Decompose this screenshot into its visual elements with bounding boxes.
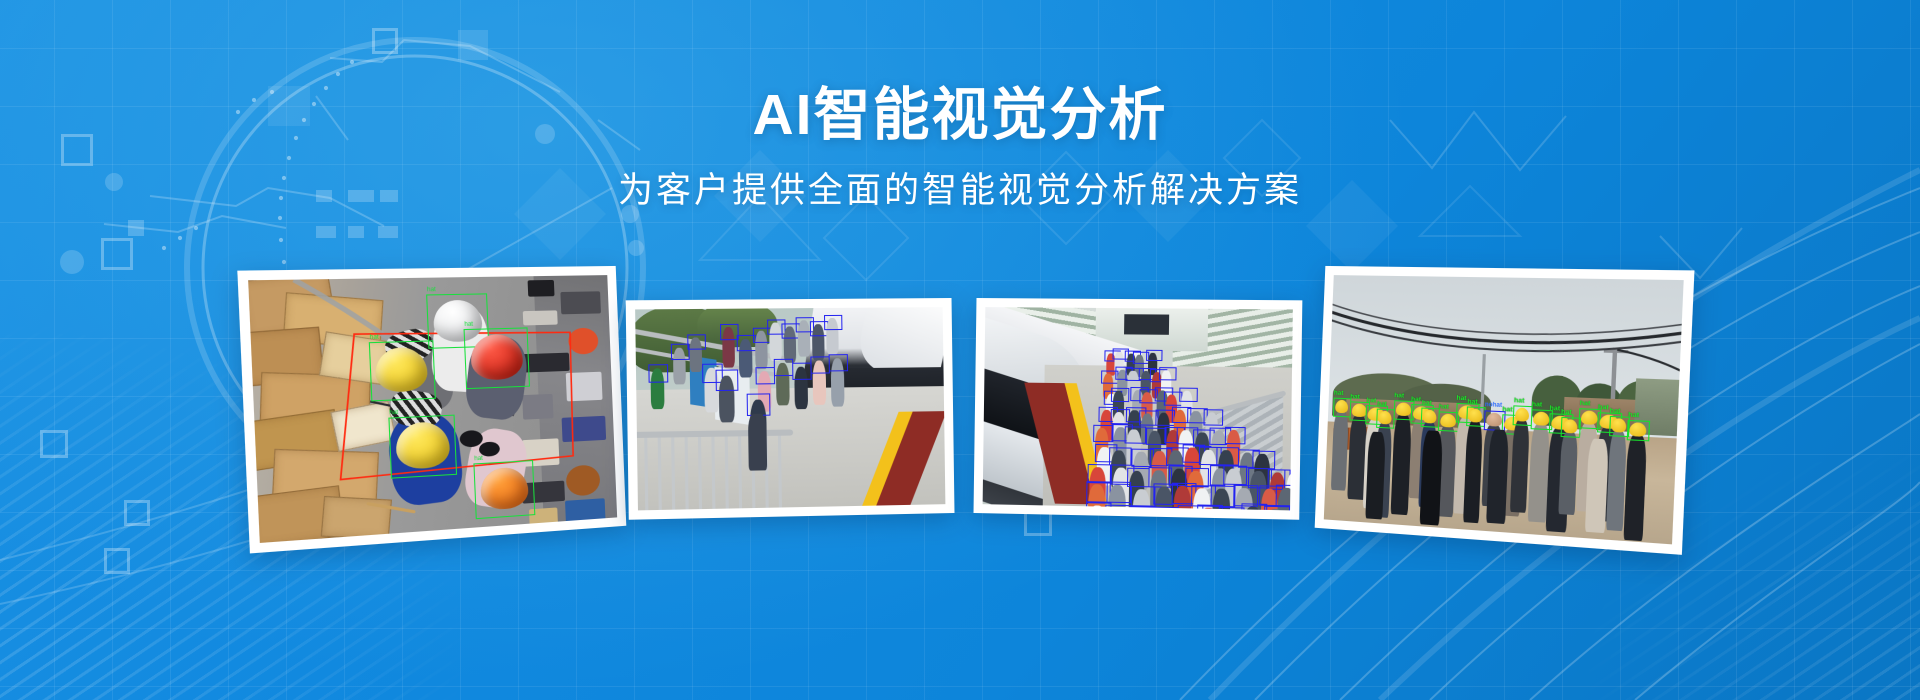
page-title: AI智能视觉分析 (0, 84, 1920, 148)
detection-box (1223, 465, 1247, 485)
worker-body (1331, 411, 1349, 490)
detection-label-hat: hat (1366, 396, 1376, 403)
detection-box (1264, 505, 1290, 510)
detection-box (1105, 504, 1131, 510)
bystander (1420, 430, 1443, 525)
detection-label-hat: hat (1334, 389, 1344, 396)
detection-box (1109, 447, 1131, 466)
detection-label-4: hat (389, 409, 398, 419)
scene-warehouse: hat hat hat hat (248, 275, 617, 543)
decor-square-5 (104, 548, 130, 574)
detection-box (1146, 350, 1162, 362)
detection-label-hat: hat (1598, 403, 1609, 411)
detection-box (1211, 485, 1236, 507)
person (1154, 509, 1173, 510)
decor-square-filled-6 (316, 226, 336, 238)
gallery: hat hat hat hat (0, 258, 1920, 548)
detection-label-nohat: nohat (1485, 401, 1503, 409)
detection-label-hat: hat (1456, 394, 1466, 402)
detection-label-hat: hat (1628, 411, 1639, 419)
detection-label-hat: hat (1514, 396, 1525, 404)
ai-vision-banner: AI智能视觉分析 为客户提供全面的智能视觉分析解决方案 (0, 0, 1920, 700)
scene-construction: hathathathathathathathathathatnohathatha… (1324, 275, 1684, 544)
person (1107, 507, 1126, 510)
detection-label-3: hat (464, 321, 473, 331)
detection-box (1225, 427, 1246, 444)
gallery-card-station-platform-crowd-counting[interactable] (626, 298, 955, 520)
scene-dense-platform (983, 307, 1293, 510)
detection-label-hat: hat (1394, 392, 1404, 400)
detection-label-5: hat (474, 455, 483, 465)
decor-square-filled-8 (378, 226, 398, 238)
decor-square-filled-1 (128, 220, 144, 236)
scene-platform (635, 307, 945, 510)
detection-box (1125, 426, 1146, 443)
detection-label-hat: hat (1411, 395, 1421, 403)
bystander (1486, 429, 1509, 524)
detection-box (1152, 506, 1178, 510)
page-subtitle: 为客户提供全面的智能视觉分析解决方案 (0, 170, 1920, 212)
detection-box (1203, 409, 1223, 425)
detection-box (1107, 482, 1132, 503)
detection-box-hat (1376, 408, 1395, 428)
site-crowd-layer: hathathathathathathathathathatnohathatha… (1324, 275, 1684, 544)
bystander (1365, 432, 1386, 520)
decor-square-7 (372, 28, 398, 54)
detection-label-hat: hat (1422, 399, 1432, 407)
detection-box-5: hat (473, 460, 535, 519)
worker-body (1624, 434, 1648, 540)
detection-box (1216, 447, 1239, 466)
person (1132, 508, 1151, 510)
detection-box (1241, 504, 1267, 511)
detection-label-hat: hat (1532, 400, 1543, 408)
detection-label-hat: hat (1467, 398, 1477, 406)
detection-box-hat (1560, 416, 1581, 437)
detection-box-4: hat (388, 415, 457, 479)
person (1179, 508, 1198, 510)
detection-label-1: hat (369, 333, 379, 343)
detection-box (1253, 450, 1276, 469)
headline-block: AI智能视觉分析 为客户提供全面的智能视觉分析解决方案 (0, 84, 1920, 212)
detection-label-hat: hat (1439, 403, 1449, 411)
dense-crowd-layer (983, 307, 1293, 510)
detection-label-hat: hat (1610, 407, 1621, 415)
detection-label-hat: hat (1549, 404, 1560, 412)
detection-box (1159, 367, 1177, 380)
worker-body (1390, 414, 1411, 515)
detection-box-3: hat (464, 327, 530, 389)
decor-square-filled-2 (458, 30, 488, 60)
detection-label-2: hat (427, 286, 436, 296)
detection-label-hat: hat (1350, 393, 1360, 400)
detection-label-hat: hat (1377, 400, 1387, 408)
bystander (1585, 438, 1609, 533)
detection-label-hat: hat (1502, 405, 1513, 413)
detection-box (1111, 388, 1130, 402)
detection-box-1: hat (369, 340, 436, 401)
decor-square-filled-7 (348, 226, 364, 238)
detection-label-hat: hat (1580, 399, 1591, 407)
detection-label-hat: hat (1561, 408, 1572, 416)
gallery-card-warehouse-helmet-detection[interactable]: hat hat hat hat (237, 266, 626, 554)
detection-box (1179, 388, 1198, 402)
worker-body (1463, 420, 1483, 522)
worker-body (1510, 419, 1530, 512)
detection-box (1275, 485, 1293, 507)
gallery-card-dense-platform-crowd-counting[interactable] (974, 298, 1303, 520)
gallery-card-construction-hardhat-detection[interactable]: hathathathathathathathathathatnohathatha… (1315, 266, 1695, 555)
detection-box-hat (1627, 419, 1650, 440)
